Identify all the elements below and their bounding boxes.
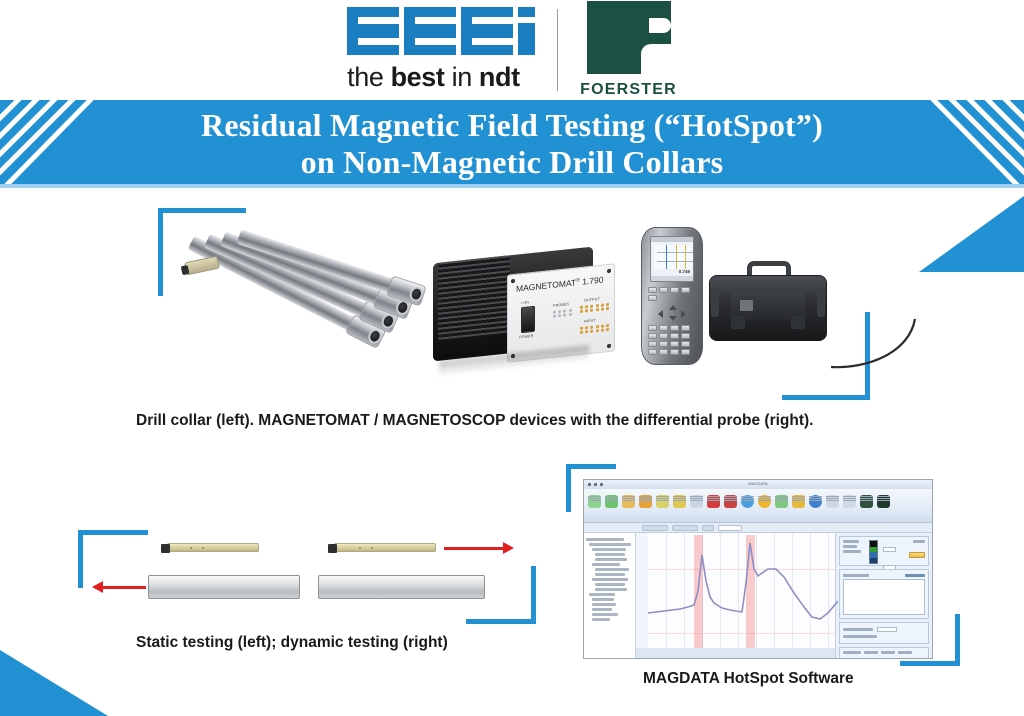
chart-signal-curve <box>648 533 838 636</box>
tree-node[interactable] <box>595 553 625 556</box>
magnetomat-output-leds <box>580 301 618 313</box>
magnetomat-power-label: POWER <box>519 334 534 340</box>
device-photo-group: MAGNETOMAT® 1.790 I ON POWER PROBES OUTP… <box>185 215 845 390</box>
ribbon-settings-icon[interactable] <box>741 495 754 508</box>
tree-node[interactable] <box>589 543 631 546</box>
tree-node[interactable] <box>595 573 625 576</box>
banner-underline <box>0 184 1024 188</box>
static-test-bar <box>148 575 300 599</box>
magnetomat-input-label: INPUT <box>584 318 596 323</box>
accent-triangle-top-right <box>919 196 1024 272</box>
ribbon-export-icon[interactable] <box>673 495 686 508</box>
magnetomat-vents <box>438 255 510 341</box>
panel-screw-icon <box>607 269 611 273</box>
ribbon-open-icon[interactable] <box>605 495 618 508</box>
magnetomat-switch-on-label: I ON <box>521 300 529 305</box>
banner-stripes-right <box>914 100 1024 188</box>
tree-node[interactable] <box>592 598 614 601</box>
handheld-reading-value: 0.746 <box>679 269 690 274</box>
case-side-rib <box>711 291 719 317</box>
foerster-f-icon <box>587 1 671 74</box>
eeci-glyph-c <box>461 7 513 55</box>
magnetomat-output-label: OUTPUT <box>584 297 600 303</box>
eeci-glyph-e1 <box>347 7 399 55</box>
ribbon-refresh-icon[interactable] <box>758 495 771 508</box>
ribbon-report-icon[interactable] <box>639 495 652 508</box>
static-direction-arrow <box>102 586 146 589</box>
tree-node[interactable] <box>592 618 610 621</box>
ribbon-table-icon[interactable] <box>656 495 669 508</box>
signal-level-indicator <box>869 540 878 564</box>
ribbon-record-icon[interactable] <box>707 495 720 508</box>
ribbon-save-icon[interactable] <box>622 495 635 508</box>
option-select[interactable] <box>877 627 897 632</box>
ribbon-help-icon[interactable] <box>826 495 839 508</box>
tree-node[interactable] <box>592 563 620 566</box>
title-banner: Residual Magnetic Field Testing (“HotSpo… <box>0 100 1024 188</box>
magnetomat-input-leds <box>580 322 618 334</box>
handheld-keypad[interactable] <box>648 287 696 301</box>
foerster-logo: FOERSTER <box>580 1 677 99</box>
eeci-tagline-best: best <box>391 62 445 92</box>
panel-limits-group <box>839 647 929 659</box>
magnetomat-brand-label: MAGNETOMAT® 1.790 <box>516 275 603 294</box>
tree-node[interactable] <box>592 578 628 581</box>
tab-report[interactable] <box>718 525 742 531</box>
software-ribbon-toolbar[interactable] <box>584 489 932 523</box>
ribbon-chart-icon[interactable] <box>775 495 788 508</box>
logo-divider <box>557 9 558 91</box>
tree-node[interactable] <box>592 603 616 606</box>
tree-node[interactable] <box>595 583 625 586</box>
signal-chart[interactable] <box>636 533 836 659</box>
logo-bar: the best in ndt FOERSTER <box>0 0 1024 100</box>
tree-node[interactable] <box>592 608 612 611</box>
tree-node[interactable] <box>595 588 627 591</box>
dynamic-probe <box>334 543 436 552</box>
page-title: Residual Magnetic Field Testing (“HotSpo… <box>201 107 823 181</box>
eeci-glyph-i <box>518 7 535 55</box>
panel-field[interactable] <box>883 547 896 552</box>
panel-results-group <box>839 569 929 619</box>
case-side-rib <box>817 291 825 317</box>
tree-node[interactable] <box>592 613 618 616</box>
ribbon-filter-icon[interactable] <box>792 495 805 508</box>
software-settings-panel[interactable] <box>836 533 932 659</box>
magnetomat-device-photo: MAGNETOMAT® 1.790 I ON POWER PROBES OUTP… <box>433 247 619 367</box>
magdata-software-screenshot[interactable]: MAGDATA <box>583 479 933 659</box>
software-view-tabs[interactable] <box>584 523 932 533</box>
magnetomat-model-text: 1.790 <box>582 275 603 287</box>
caption-software: MAGDATA HotSpot Software <box>643 670 854 688</box>
magnetoscop-handheld-photo: 0.746 <box>641 227 703 365</box>
eeci-tagline-the: the <box>347 62 390 92</box>
eeci-tagline: the best in ndt <box>347 62 520 93</box>
ribbon-home-icon[interactable] <box>588 495 601 508</box>
dpad-down-icon[interactable] <box>669 316 677 321</box>
tab-analysis[interactable] <box>672 525 698 531</box>
foerster-name: FOERSTER <box>580 81 677 99</box>
eeci-tagline-in: in <box>445 62 479 92</box>
dpad-up-icon[interactable] <box>669 305 677 310</box>
display-plot-area <box>654 245 692 269</box>
panel-signal-group <box>839 536 929 566</box>
software-title-text: MAGDATA <box>748 481 767 486</box>
differential-probe-cable <box>797 317 917 379</box>
chart-y-axis <box>636 533 648 648</box>
ribbon-print-icon[interactable] <box>843 495 856 508</box>
handheld-display: 0.746 <box>650 236 694 282</box>
panel-action-button[interactable] <box>909 552 925 558</box>
tree-node[interactable] <box>595 558 627 561</box>
ribbon-info-icon[interactable] <box>809 495 822 508</box>
results-list[interactable] <box>843 579 925 615</box>
dpad-left-icon[interactable] <box>658 310 663 318</box>
tree-node[interactable] <box>595 568 629 571</box>
software-titlebar: MAGDATA <box>584 480 932 489</box>
eeci-logo: the best in ndt <box>347 7 557 93</box>
magnetomat-brand-text: MAGNETOMAT <box>516 277 576 293</box>
case-latch <box>731 316 745 329</box>
collar-bore <box>408 285 425 303</box>
static-probe <box>167 543 259 552</box>
handheld-dpad[interactable] <box>658 305 686 321</box>
eeci-tagline-ndt: ndt <box>479 62 520 92</box>
panel-screw-icon <box>607 344 611 348</box>
ribbon-view1-icon[interactable] <box>860 495 873 508</box>
tree-node[interactable] <box>592 548 626 551</box>
ribbon-stop-icon[interactable] <box>724 495 737 508</box>
banner-stripes-left <box>0 100 110 188</box>
display-footer-bar <box>651 276 694 281</box>
dynamic-direction-arrow <box>444 547 504 550</box>
tree-node[interactable] <box>586 538 624 541</box>
magnetomat-registered-mark: ® <box>576 277 580 283</box>
tab-zoom[interactable] <box>702 525 714 531</box>
chart-x-axis <box>636 648 835 659</box>
dynamic-test-bar <box>318 575 485 599</box>
magnetomat-probes-label: PROBES <box>553 302 569 308</box>
eeci-glyph-e2 <box>404 7 456 55</box>
caption-devices: Drill collar (left). MAGNETOMAT / MAGNET… <box>136 412 813 430</box>
panel-screw-icon <box>511 279 515 283</box>
eeci-wordmark <box>347 7 535 55</box>
tree-node[interactable] <box>589 593 615 596</box>
tab-measurement[interactable] <box>642 525 668 531</box>
handheld-numeric-keypad[interactable] <box>648 325 696 355</box>
panel-options-group <box>839 622 929 644</box>
software-workspace <box>584 533 932 659</box>
dpad-right-icon[interactable] <box>681 310 686 318</box>
ribbon-view2-icon[interactable] <box>877 495 890 508</box>
poster-page: the best in ndt FOERSTER <box>0 0 1024 716</box>
page-title-line1: Residual Magnetic Field Testing (“HotSpo… <box>201 107 823 144</box>
page-title-line2: on Non-Magnetic Drill Collars <box>201 144 823 181</box>
case-logo-icon <box>740 300 753 311</box>
software-tree-panel[interactable] <box>584 533 636 659</box>
drill-collars-photo <box>185 229 445 389</box>
caption-testing: Static testing (left); dynamic testing (… <box>136 634 448 652</box>
testing-diagram <box>90 535 550 615</box>
magnetomat-power-switch[interactable] <box>521 306 535 333</box>
display-header-bar <box>651 237 693 242</box>
ribbon-import-icon[interactable] <box>690 495 703 508</box>
accent-triangle-bottom-left <box>0 650 108 716</box>
